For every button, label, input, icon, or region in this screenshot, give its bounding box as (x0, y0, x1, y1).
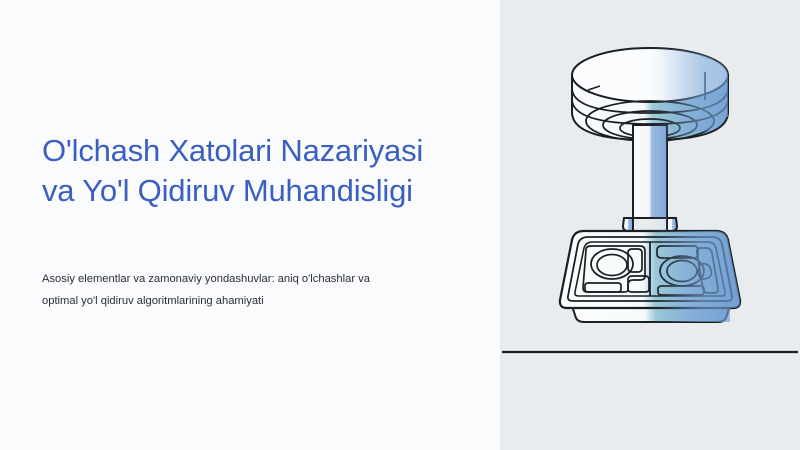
measuring-scale-illustration (500, 0, 800, 450)
right-illustration-panel (500, 0, 800, 450)
stem-foot-right (667, 218, 677, 231)
slide-subtitle-line-2: optimal yo'l qidiruv algoritmlarining ah… (42, 295, 264, 307)
slide-canvas: O'lchash Xatolari Nazariyasi va Yo'l Qid… (0, 0, 800, 450)
slide-title-line-1: O'lchash Xatolari Nazariyasi (42, 133, 423, 168)
overlay-right-half (650, 40, 800, 340)
slide-subtitle: Asosiy elementlar va zamonaviy yondashuv… (42, 268, 442, 312)
slide-title-line-2: va Yo'l Qidiruv Muhandisligi (42, 173, 413, 208)
left-text-panel: O'lchash Xatolari Nazariyasi va Yo'l Qid… (0, 0, 500, 450)
slide-title: O'lchash Xatolari Nazariyasi va Yo'l Qid… (42, 131, 472, 211)
page-title: O'lchash Xatolari Nazariyasi va Yo'l Qid… (42, 131, 472, 211)
blue-gradient-overlay (650, 40, 800, 340)
slide-subtitle-block: Asosiy elementlar va zamonaviy yondashuv… (42, 268, 442, 312)
slide-subtitle-line-1: Asosiy elementlar va zamonaviy yondashuv… (42, 273, 370, 285)
stem-foot-left (623, 218, 633, 231)
